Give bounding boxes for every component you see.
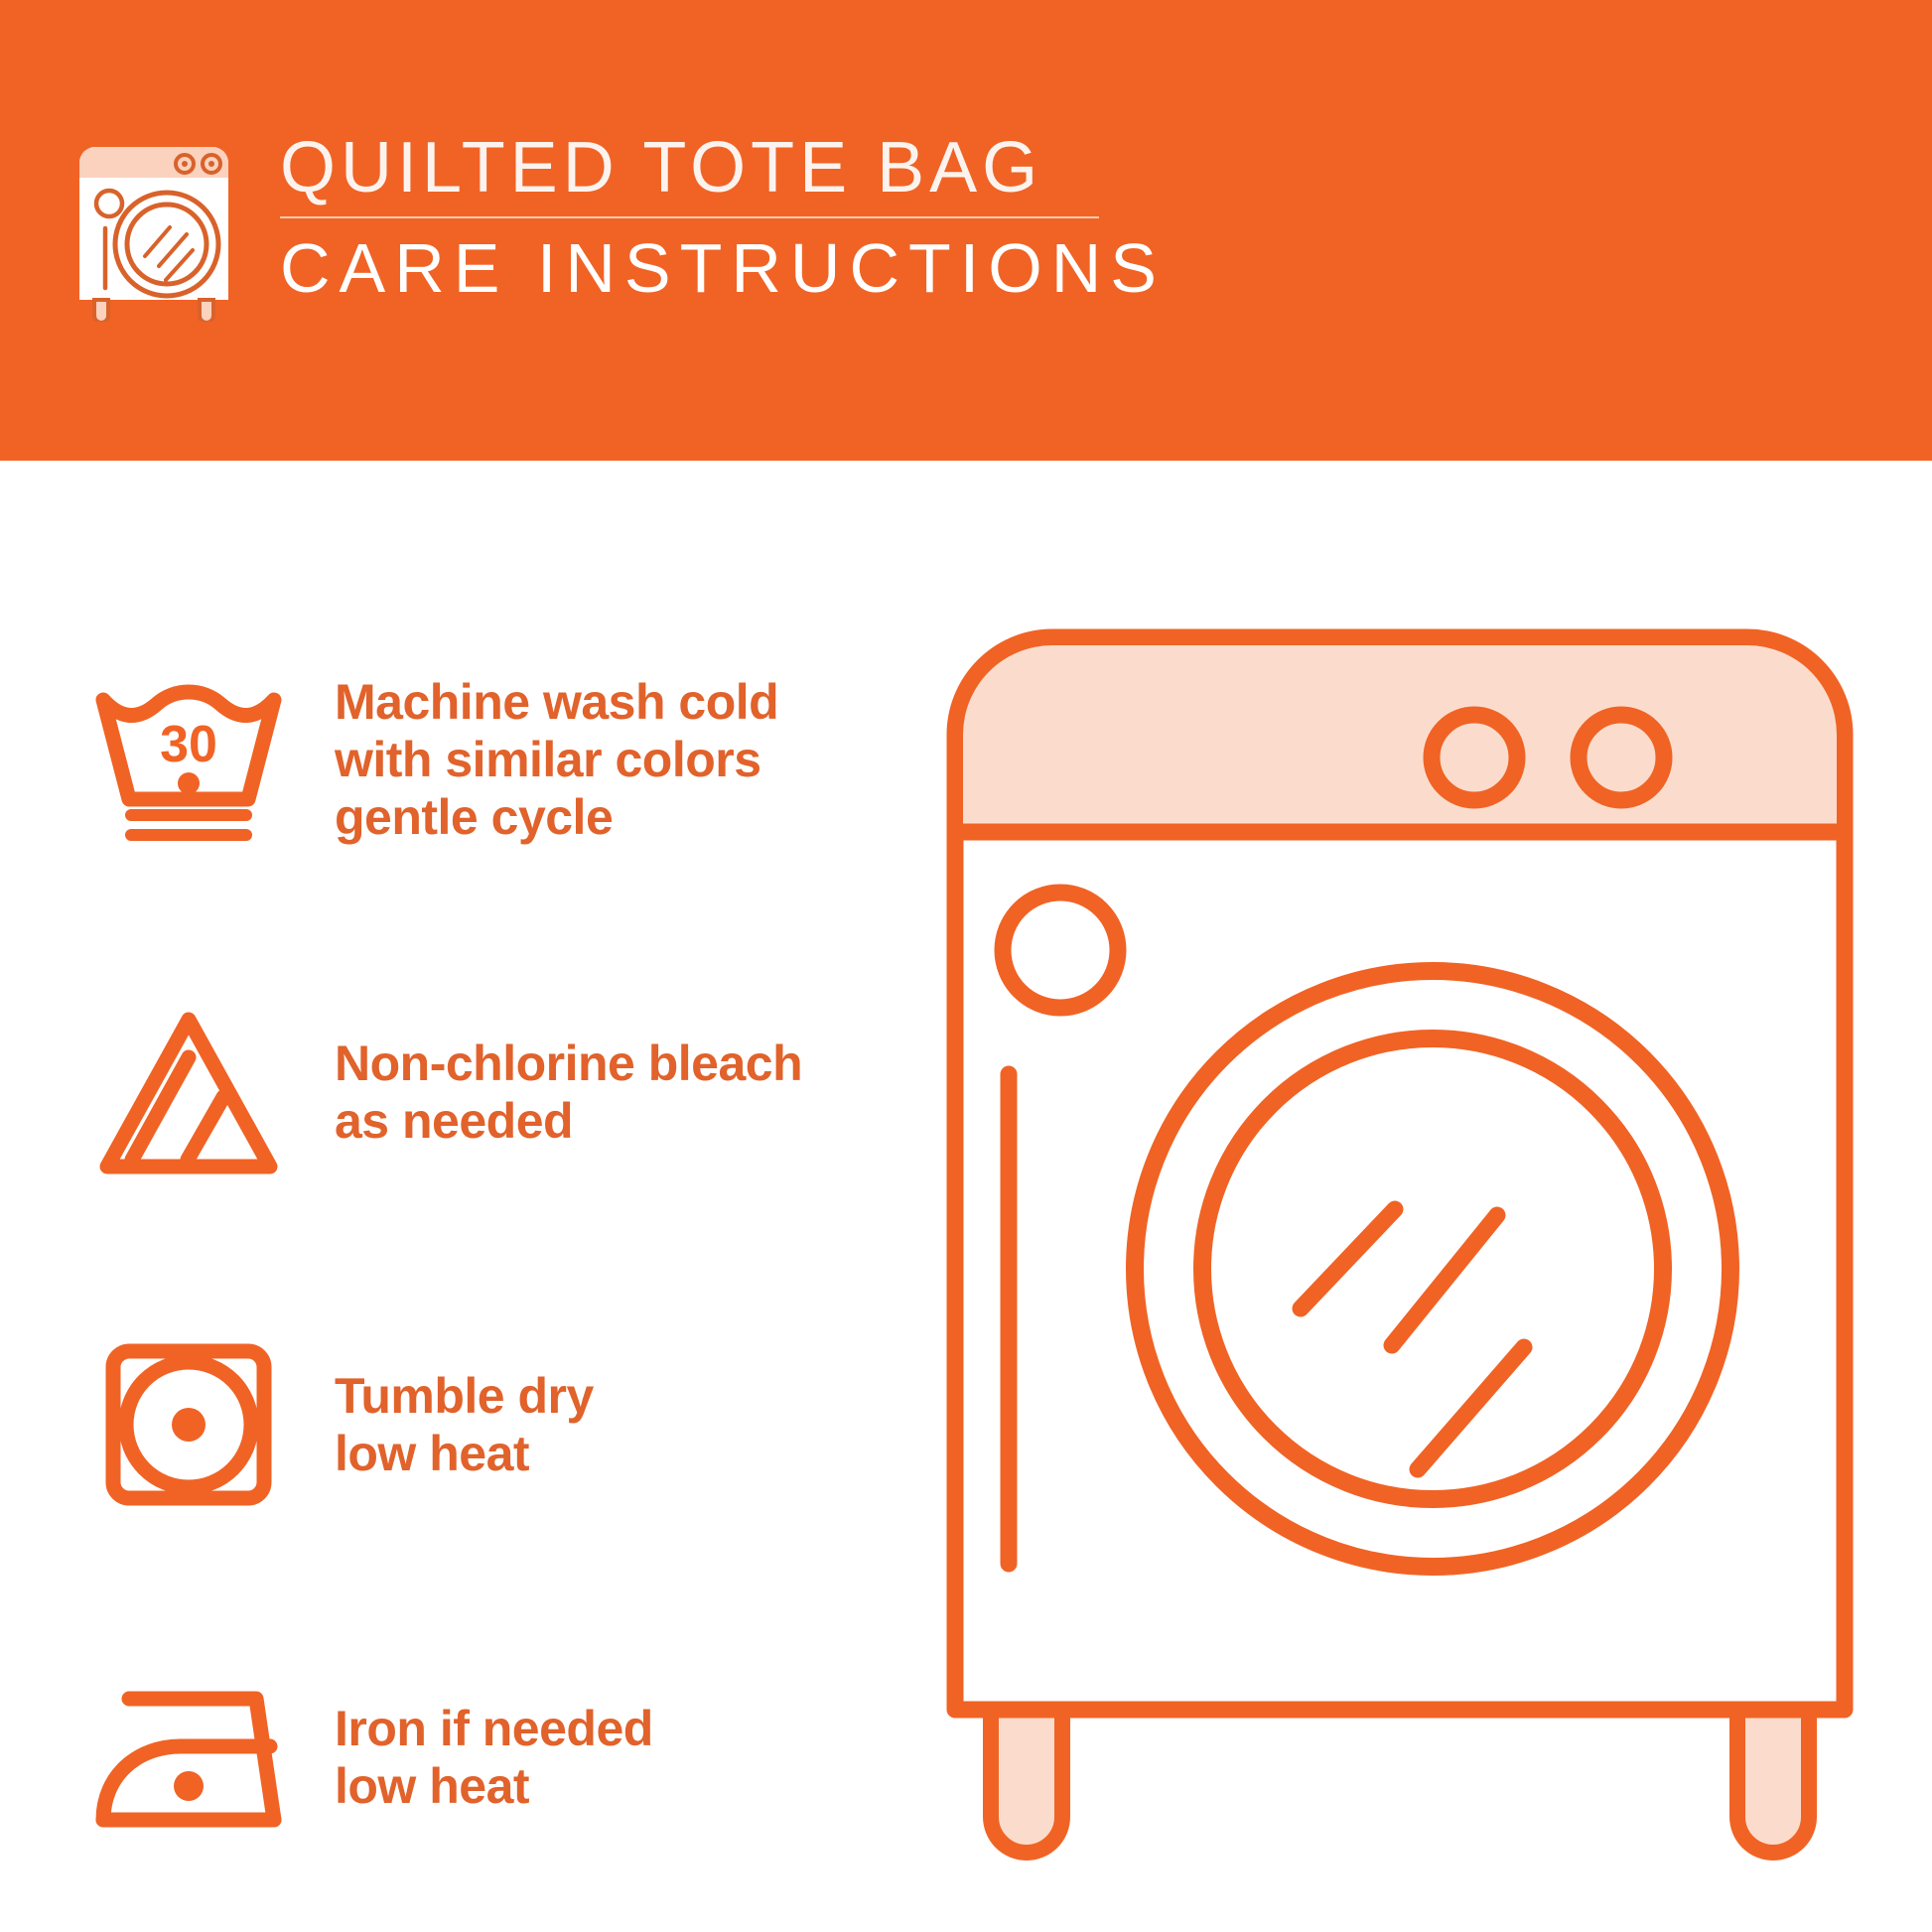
washing-machine-icon bbox=[69, 133, 238, 322]
care-row-bleach: Non-chlorine bleach as needed bbox=[89, 993, 903, 1191]
knob-right-icon[interactable] bbox=[1579, 715, 1664, 800]
header-banner: QUILTED TOTE BAG CARE INSTRUCTIONS bbox=[0, 0, 1932, 461]
care-symbol-slot bbox=[89, 998, 288, 1186]
leg-left-icon bbox=[991, 1703, 1062, 1853]
care-label-tumble-dry: Tumble dry low heat bbox=[335, 1367, 903, 1482]
care-row-tumble-dry: Tumble dry low heat bbox=[89, 1325, 903, 1524]
bleach-triangle-icon bbox=[89, 1006, 288, 1179]
care-symbol-slot bbox=[89, 1330, 288, 1519]
care-label-line: as needed bbox=[335, 1092, 903, 1150]
tumble-dry-icon bbox=[99, 1339, 278, 1510]
header-content: QUILTED TOTE BAG CARE INSTRUCTIONS bbox=[69, 127, 1311, 345]
care-label-line: with similar colors bbox=[335, 731, 903, 788]
care-label-iron: Iron if needed low heat bbox=[335, 1700, 903, 1815]
iron-icon bbox=[89, 1681, 288, 1835]
wash-tub-30-icon: 30 bbox=[89, 678, 288, 842]
wash-temperature-label: 30 bbox=[160, 716, 217, 773]
care-symbol-slot: 30 bbox=[89, 665, 288, 854]
gentle-bar-2 bbox=[125, 829, 252, 841]
care-instructions-page: QUILTED TOTE BAG CARE INSTRUCTIONS 30 Ma… bbox=[0, 0, 1932, 1932]
washing-machine-illustration bbox=[943, 625, 1857, 1876]
header-title-group: QUILTED TOTE BAG CARE INSTRUCTIONS bbox=[280, 127, 1311, 308]
care-label-bleach: Non-chlorine bleach as needed bbox=[335, 1035, 903, 1150]
iron-dot bbox=[174, 1771, 204, 1801]
page-subtitle: CARE INSTRUCTIONS bbox=[280, 228, 1311, 308]
care-row-machine-wash: 30 Machine wash cold with similar colors… bbox=[89, 660, 903, 859]
care-instruction-list: 30 Machine wash cold with similar colors… bbox=[89, 660, 903, 1857]
care-label-line: Machine wash cold bbox=[335, 673, 903, 731]
care-label-line: Non-chlorine bleach bbox=[335, 1035, 903, 1092]
care-label-line: Iron if needed bbox=[335, 1700, 903, 1757]
care-label-line: Tumble dry bbox=[335, 1367, 903, 1425]
care-label-line: low heat bbox=[335, 1757, 903, 1815]
wash-dot bbox=[178, 772, 200, 794]
tumble-dry-dot bbox=[172, 1408, 206, 1442]
leg-right-icon bbox=[1737, 1703, 1809, 1853]
knob-left-icon[interactable] bbox=[1432, 715, 1517, 800]
title-divider bbox=[280, 216, 1099, 218]
care-label-machine-wash: Machine wash cold with similar colors ge… bbox=[335, 673, 903, 846]
top-control-panel bbox=[963, 645, 1837, 832]
bleach-stripe-2 bbox=[188, 1097, 223, 1160]
page-title: QUILTED TOTE BAG bbox=[280, 127, 1311, 208]
care-label-line: gentle cycle bbox=[335, 788, 903, 846]
care-label-line: low heat bbox=[335, 1425, 903, 1482]
gentle-bar-1 bbox=[125, 809, 252, 821]
care-symbol-slot bbox=[89, 1663, 288, 1852]
care-row-iron: Iron if needed low heat bbox=[89, 1658, 903, 1857]
